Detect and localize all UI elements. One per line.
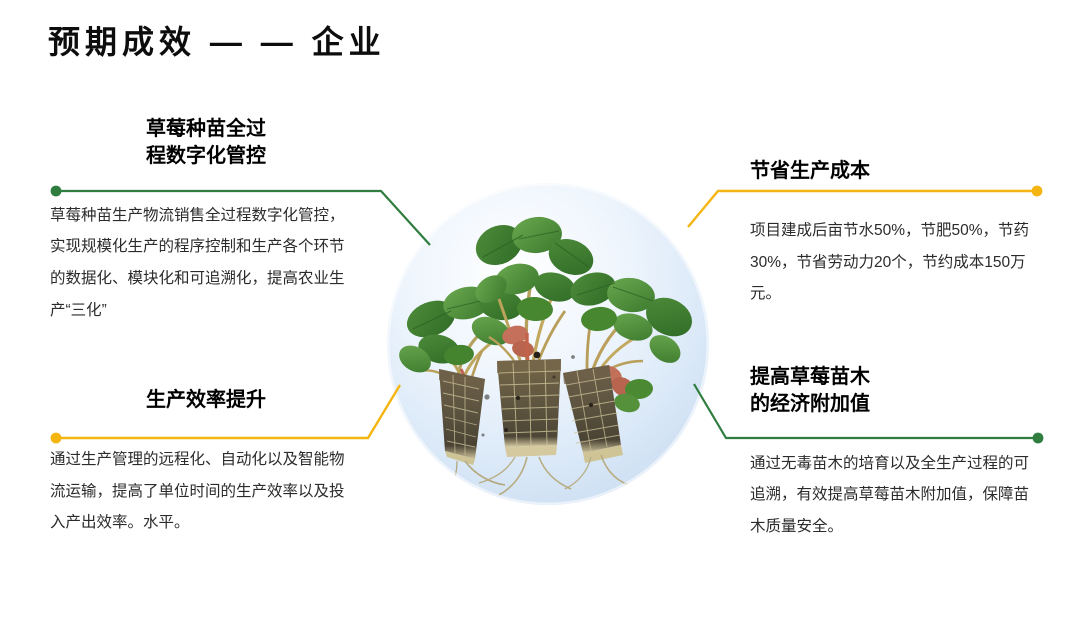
page-title: 预期成效 — — 企业 (48, 22, 386, 62)
card-cost-saving: 节省生产成本 项目建成后亩节水50%，节肥50%，节药30%，节省劳动力20个，… (750, 158, 1050, 310)
card-digital-control: 草莓种苗全过 程数字化管控 草莓种苗生产物流销售全过程数字化管控，实现规模化生产… (50, 116, 380, 327)
card-efficiency: 生产效率提升 通过生产管理的远程化、自动化以及智能物流运输，提高了单位时间的生产… (50, 387, 380, 539)
card-added-value-heading: 提高草莓苗木 的经济附加值 (750, 364, 1050, 418)
card-cost-saving-body: 项目建成后亩节水50%，节肥50%，节药30%，节省劳动力20个，节约成本150… (750, 215, 1040, 310)
card-efficiency-heading: 生产效率提升 (56, 387, 356, 414)
card-added-value: 提高草莓苗木 的经济附加值 通过无毒苗木的培育以及全生产过程的可追溯，有效提高草… (750, 364, 1050, 543)
card-efficiency-body: 通过生产管理的远程化、自动化以及智能物流运输，提高了单位时间的生产效率以及投入产… (50, 444, 350, 539)
card-cost-saving-heading: 节省生产成本 (750, 158, 1050, 185)
card-digital-control-heading: 草莓种苗全过 程数字化管控 (56, 116, 356, 170)
card-digital-control-body: 草莓种苗生产物流销售全过程数字化管控，实现规模化生产的程序控制和生产各个环节的数… (50, 200, 350, 327)
card-added-value-body: 通过无毒苗木的培育以及全生产过程的可追溯，有效提高草莓苗木附加值，保障苗木质量安… (750, 448, 1040, 543)
hero-photo-strawberry-seedlings (387, 183, 709, 505)
